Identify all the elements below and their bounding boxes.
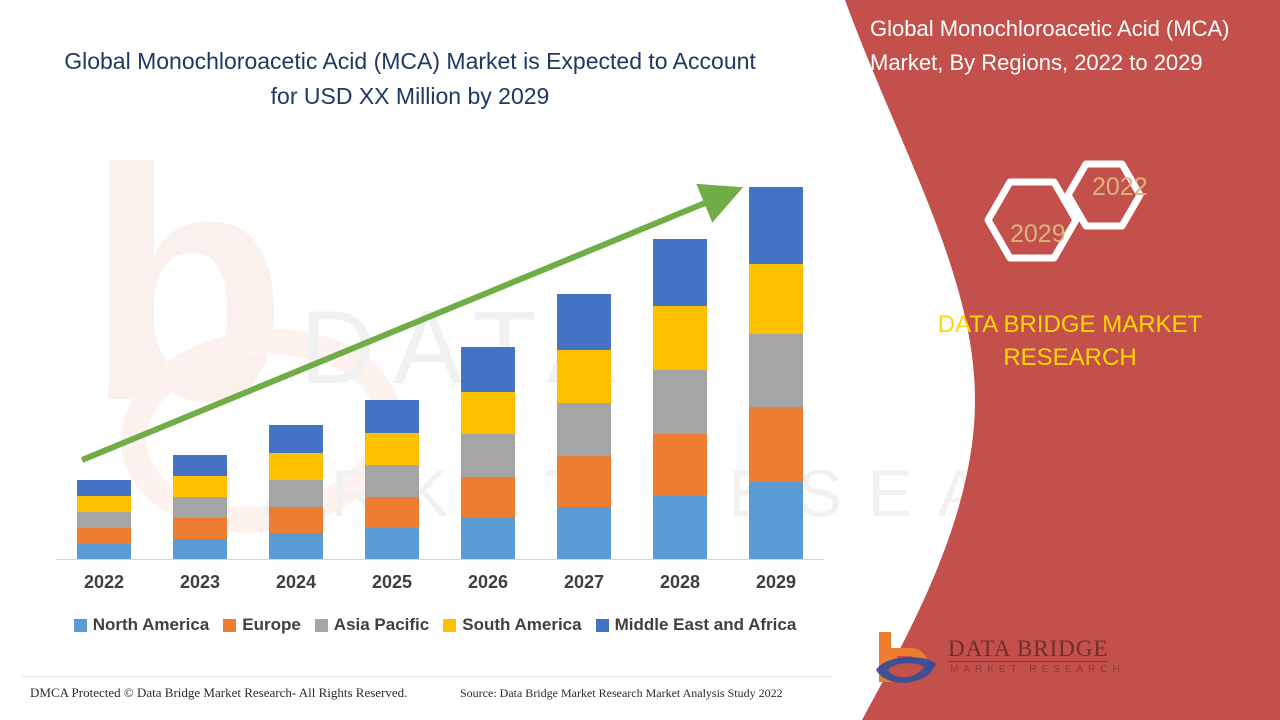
bar-segment bbox=[557, 350, 611, 403]
hexagon-badges: 2022 2029 bbox=[980, 145, 1180, 295]
x-axis-label-2027: 2027 bbox=[544, 572, 624, 593]
bar-segment bbox=[77, 512, 131, 528]
bar-segment bbox=[365, 528, 419, 560]
x-axis-labels: 20222023202420252026202720282029 bbox=[56, 572, 824, 600]
bar-segment bbox=[269, 533, 323, 560]
infographic-slide: b DATA MARKET RESEARCH Global Monochloro… bbox=[0, 0, 1280, 720]
logo-mark-icon bbox=[870, 628, 946, 694]
bar-segment bbox=[653, 434, 707, 496]
panel-content: Global Monochloroacetic Acid (MCA) Marke… bbox=[860, 0, 1280, 720]
bar-segment bbox=[653, 306, 707, 370]
x-axis-label-2024: 2024 bbox=[256, 572, 336, 593]
legend-item[interactable]: Asia Pacific bbox=[315, 615, 429, 635]
footer-source: Source: Data Bridge Market Research Mark… bbox=[460, 686, 783, 701]
bar-segment bbox=[173, 455, 227, 476]
bar-segment bbox=[269, 507, 323, 533]
bar-column-2024 bbox=[269, 425, 323, 560]
bar-segment bbox=[749, 264, 803, 334]
bar-segment bbox=[173, 476, 227, 497]
legend-swatch-icon bbox=[315, 619, 328, 632]
bar-segment bbox=[461, 347, 515, 392]
x-axis-label-2023: 2023 bbox=[160, 572, 240, 593]
legend-label: South America bbox=[462, 615, 581, 635]
bar-segment bbox=[365, 465, 419, 497]
bar-segment bbox=[77, 496, 131, 512]
footer-copyright: DMCA Protected © Data Bridge Market Rese… bbox=[30, 685, 407, 701]
bar-column-2022 bbox=[77, 480, 131, 560]
bar-segment bbox=[749, 187, 803, 264]
legend-label: Europe bbox=[242, 615, 301, 635]
legend-item[interactable]: North America bbox=[74, 615, 210, 635]
chart-plot-area bbox=[56, 150, 824, 560]
legend-item[interactable]: South America bbox=[443, 615, 581, 635]
bar-segment bbox=[557, 403, 611, 456]
bar-segment bbox=[269, 453, 323, 480]
x-axis-line bbox=[56, 559, 824, 560]
x-axis-label-2026: 2026 bbox=[448, 572, 528, 593]
bar-segment bbox=[269, 425, 323, 453]
bar-column-2025 bbox=[365, 400, 419, 560]
legend-item[interactable]: Europe bbox=[223, 615, 301, 635]
footer-divider bbox=[22, 676, 832, 677]
bar-segment bbox=[77, 480, 131, 496]
chart-title: Global Monochloroacetic Acid (MCA) Marke… bbox=[60, 44, 760, 114]
bar-segment bbox=[269, 480, 323, 507]
bar-column-2023 bbox=[173, 455, 227, 560]
legend-label: North America bbox=[93, 615, 210, 635]
chart-legend: North AmericaEuropeAsia PacificSouth Ame… bbox=[40, 615, 830, 635]
bar-segment bbox=[461, 518, 515, 560]
legend-swatch-icon bbox=[223, 619, 236, 632]
bar-segment bbox=[749, 482, 803, 560]
bar-column-2028 bbox=[653, 239, 707, 560]
bar-segment bbox=[77, 544, 131, 560]
bar-segment bbox=[365, 433, 419, 465]
legend-swatch-icon bbox=[443, 619, 456, 632]
bar-segment bbox=[749, 407, 803, 482]
bar-segment bbox=[365, 400, 419, 433]
bar-segment bbox=[461, 477, 515, 518]
x-axis-label-2028: 2028 bbox=[640, 572, 720, 593]
bar-segment bbox=[173, 539, 227, 560]
bar-segment bbox=[557, 507, 611, 560]
bar-column-2029 bbox=[749, 187, 803, 560]
legend-swatch-icon bbox=[596, 619, 609, 632]
hexagon-2029-label: 2029 bbox=[1010, 220, 1066, 249]
logo-text-main: DATA BRIDGE bbox=[948, 636, 1109, 662]
bar-segment bbox=[173, 518, 227, 539]
bar-column-2026 bbox=[461, 347, 515, 560]
logo-text-sub: MARKET RESEARCH bbox=[950, 664, 1125, 675]
legend-item[interactable]: Middle East and Africa bbox=[596, 615, 797, 635]
company-logo: DATA BRIDGE MARKET RESEARCH bbox=[870, 628, 1120, 698]
bar-column-2027 bbox=[557, 294, 611, 560]
bar-segment bbox=[365, 497, 419, 528]
bar-segment bbox=[653, 239, 707, 306]
bar-segment bbox=[173, 497, 227, 518]
brand-line-2: RESEARCH bbox=[1003, 344, 1136, 371]
bar-segment bbox=[557, 456, 611, 507]
x-axis-label-2029: 2029 bbox=[736, 572, 816, 593]
brand-line-1: DATA BRIDGE MARKET bbox=[938, 311, 1202, 338]
bar-segment bbox=[461, 392, 515, 434]
bar-segment bbox=[653, 370, 707, 434]
bar-segment bbox=[653, 496, 707, 560]
x-axis-label-2022: 2022 bbox=[64, 572, 144, 593]
legend-swatch-icon bbox=[74, 619, 87, 632]
panel-title: Global Monochloroacetic Acid (MCA) Marke… bbox=[870, 12, 1280, 80]
legend-label: Middle East and Africa bbox=[615, 615, 797, 635]
bar-segment bbox=[77, 528, 131, 544]
x-axis-label-2025: 2025 bbox=[352, 572, 432, 593]
bar-segment bbox=[557, 294, 611, 350]
bar-segment bbox=[461, 434, 515, 477]
hexagon-2022-label: 2022 bbox=[1092, 173, 1148, 202]
legend-label: Asia Pacific bbox=[334, 615, 429, 635]
bar-segment bbox=[749, 334, 803, 407]
brand-name: DATA BRIDGE MARKET RESEARCH bbox=[880, 308, 1260, 374]
